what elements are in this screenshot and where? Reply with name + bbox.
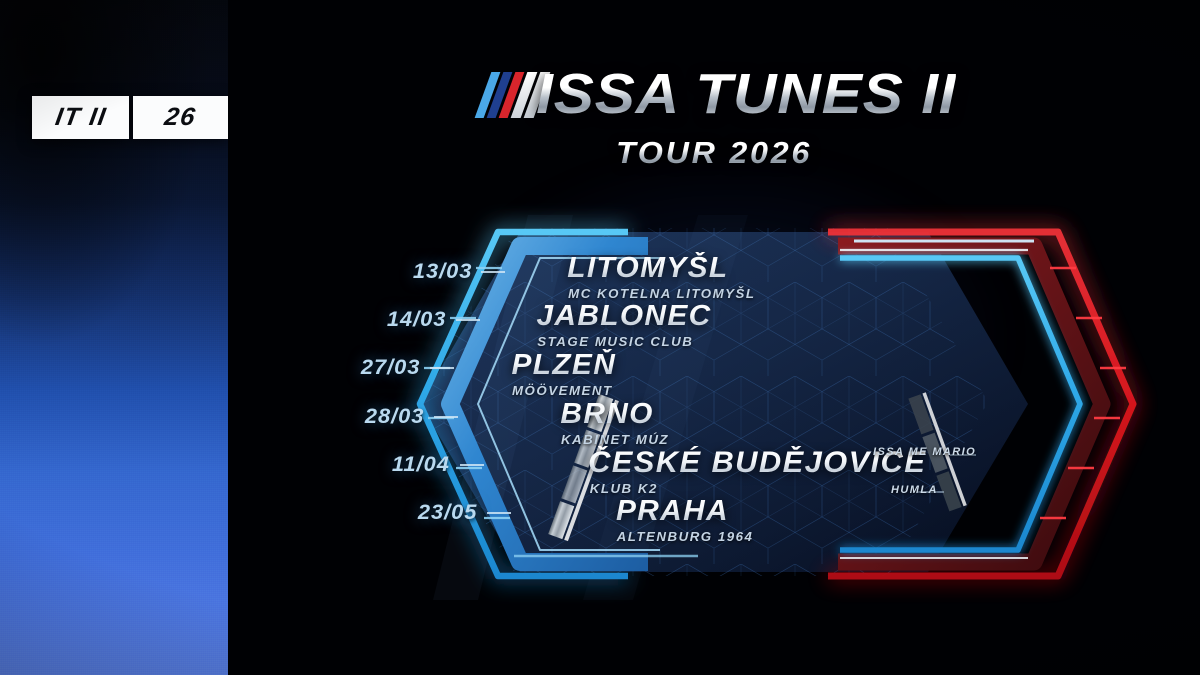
it-badge: IT II 26 bbox=[32, 96, 228, 139]
artist-name: ISSA ME MARIO bbox=[873, 446, 976, 458]
center-stage: ISSA TUNES II TOUR 2026 13/03 14/03 27/0… bbox=[228, 0, 1200, 675]
poster-canvas: IT II 26 bbox=[0, 0, 1200, 675]
badge-cell-right: 26 bbox=[133, 96, 228, 139]
badge-left-label: IT II bbox=[53, 105, 108, 130]
badge-right-label: 26 bbox=[163, 105, 198, 130]
artist-list: ISSA ME MARIO HUMLA bbox=[228, 0, 1200, 675]
artist-name: HUMLA bbox=[891, 484, 938, 496]
badge-cell-left: IT II bbox=[32, 96, 129, 139]
